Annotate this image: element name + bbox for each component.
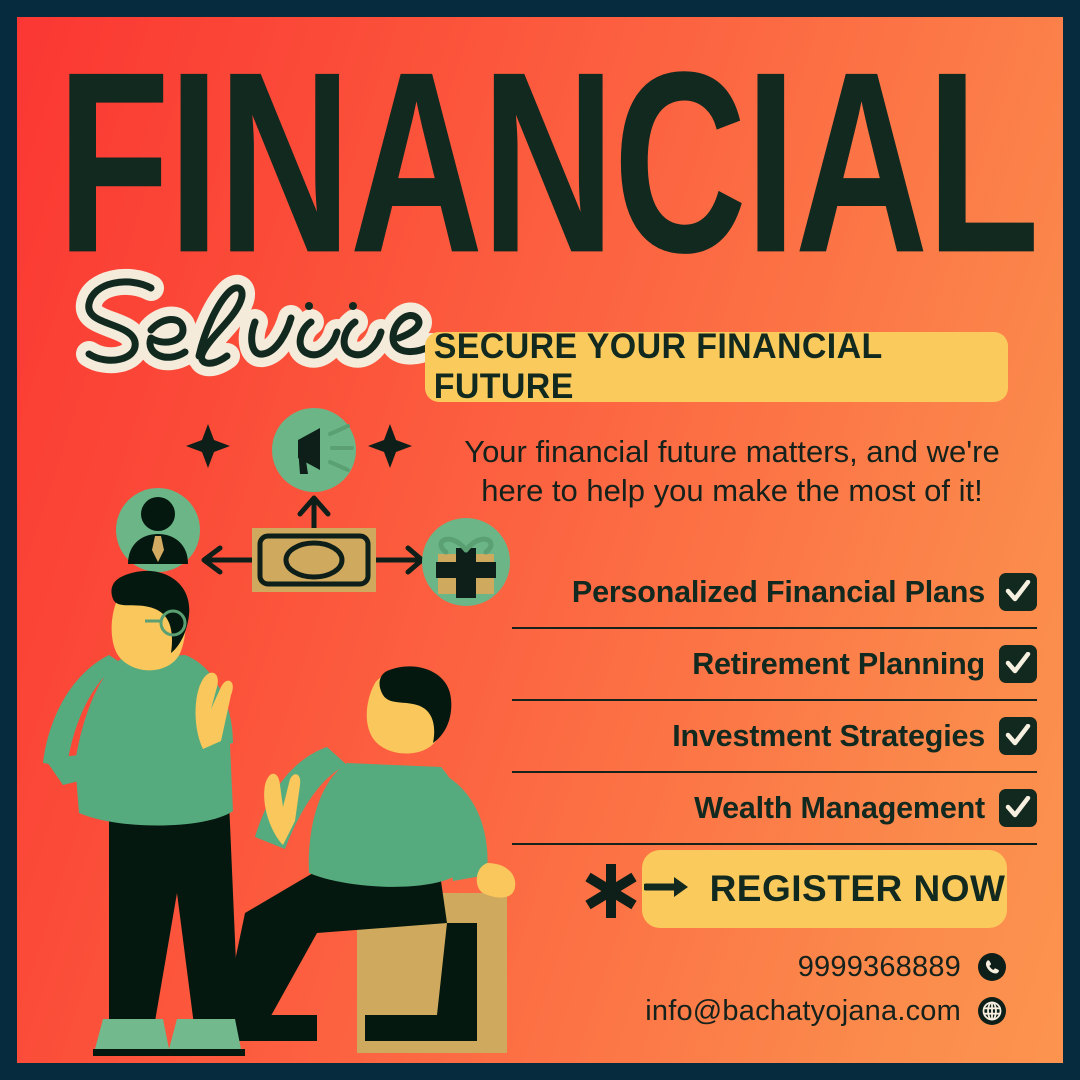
phone-icon [977,952,1007,982]
globe-icon [977,996,1007,1026]
feature-label: Retirement Planning [692,647,985,682]
script-wordmark-service [59,260,479,380]
standing-person [43,571,245,1056]
asterisk-icon [580,860,642,922]
register-now-label: REGISTER NOW [710,868,1006,910]
page-title: FINANCIAL PLANNING [57,57,888,269]
check-icon[interactable] [999,789,1037,827]
phone-number: 9999368889 [798,951,961,984]
poster-frame: FINANCIAL PLANNING [0,0,1080,1080]
tagline-text: SECURE YOUR FINANCIAL FUTURE [434,327,1000,407]
people-illustration [17,563,557,1063]
contact-phone-row[interactable]: 9999368889 [577,945,1007,989]
features-list: Personalized Financial Plans Retirement … [512,557,1037,845]
megaphone-icon [272,408,356,492]
list-item[interactable]: Personalized Financial Plans [512,557,1037,629]
list-item[interactable]: Retirement Planning [512,629,1037,701]
list-item[interactable]: Wealth Management [512,773,1037,845]
list-item[interactable]: Investment Strategies [512,701,1037,773]
feature-label: Investment Strategies [672,719,985,754]
arrow-right-icon [644,874,692,905]
poster-canvas: FINANCIAL PLANNING [17,17,1063,1063]
feature-label: Personalized Financial Plans [572,575,985,610]
tagline-badge: SECURE YOUR FINANCIAL FUTURE [425,332,1008,402]
person-icon [116,488,200,572]
check-icon[interactable] [999,717,1037,755]
register-now-button[interactable]: REGISTER NOW [642,850,1007,928]
contact-block: 9999368889 info@bachatyojana.com [577,945,1007,1033]
feature-label: Wealth Management [694,791,985,826]
check-icon[interactable] [999,645,1037,683]
seated-person [213,666,515,1053]
email-address: info@bachatyojana.com [645,995,961,1028]
check-icon[interactable] [999,573,1037,611]
contact-email-row[interactable]: info@bachatyojana.com [577,989,1007,1033]
